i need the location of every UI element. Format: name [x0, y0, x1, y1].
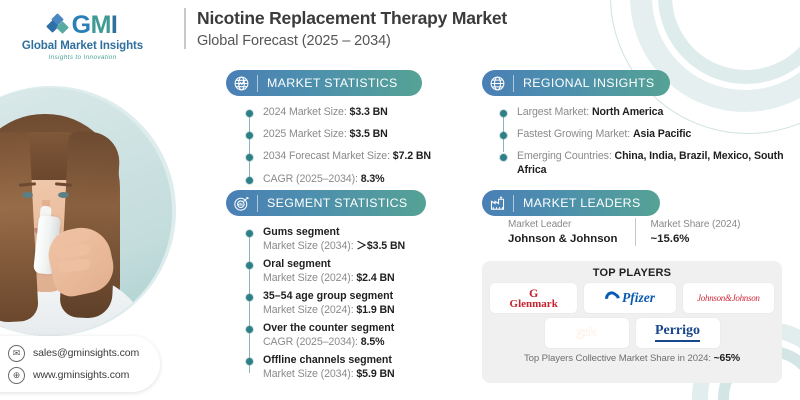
market-leaders-content: Market Leader Johnson & Johnson Market S… [508, 218, 786, 246]
logo-full-name: Global Market Insights [10, 40, 155, 52]
stat-label: 2025 Market Size: [263, 128, 347, 140]
bullet-dot [246, 177, 253, 184]
top-players-footer-label: Top Players Collective Market Share in 2… [524, 353, 711, 364]
segment-value: $1.9 BN [356, 304, 394, 316]
brand-logo[interactable]: GMI Global Market Insights Insights to I… [10, 13, 155, 61]
region-value: North America [592, 106, 663, 118]
bullet-dot [500, 154, 507, 161]
top-players-title: TOP PLAYERS [490, 267, 774, 279]
segment-name: Over the counter segment [263, 322, 466, 336]
bullet-dot [500, 110, 507, 117]
market-share-label: Market Share (2024) [650, 218, 740, 232]
list-item: CAGR (2025–2034): 8.3% [246, 173, 461, 186]
stat-value: $3.3 BN [350, 106, 388, 118]
contact-card: ✉ sales@gminsights.com ⊕ www.gminsights.… [0, 336, 160, 392]
contact-website: www.gminsights.com [33, 369, 129, 381]
market-statistics-label: MARKET STATISTICS [267, 76, 398, 90]
list-item: Fastest Growing Market: Asia Pacific [500, 128, 790, 141]
stat-label: 2034 Forecast Market Size: [263, 150, 390, 162]
segment-label: Market Size (2034): [263, 368, 354, 380]
page-title: Nicotine Replacement Therapy Market [197, 8, 507, 28]
bullet-dot [246, 326, 253, 333]
top-players-row-1: G Glenmark Pfizer Johnson&Johnson [490, 283, 774, 313]
top-players-row-2: gsk Perrigo [490, 318, 774, 348]
bullet-dot [246, 262, 253, 269]
header: GMI Global Market Insights Insights to I… [0, 0, 800, 62]
list-item: 35–54 age group segment Market Size (202… [246, 290, 466, 317]
region-label: Emerging Countries: [517, 150, 612, 162]
segment-value: $5.9 BN [356, 368, 394, 380]
list-item: Gums segment Market Size (2034): ＞$3.5 B… [246, 226, 466, 253]
segment-name: Oral segment [263, 258, 466, 272]
regional-insights-header: REGIONAL INSIGHTS [482, 70, 670, 96]
list-item: 2024 Market Size: $3.3 BN [246, 106, 461, 119]
region-label: Largest Market: [517, 106, 589, 118]
title-block: Nicotine Replacement Therapy Market Glob… [184, 8, 507, 49]
segment-statistics-list: Gums segment Market Size (2034): ＞$3.5 B… [246, 226, 466, 381]
stat-label: 2024 Market Size: [263, 106, 347, 118]
segment-label: Market Size (2024): [263, 304, 354, 316]
stat-value: $7.2 BN [393, 150, 431, 162]
segment-label: Market Size (2034): [263, 240, 354, 252]
segment-label: Market Size (2024): [263, 272, 354, 284]
segment-value: $2.4 BN [356, 272, 394, 284]
region-value: Asia Pacific [633, 128, 691, 140]
bullet-dot [246, 110, 253, 117]
target-chart-icon [226, 190, 256, 216]
top-players-card: TOP PLAYERS G Glenmark Pfizer Johnson&Jo… [482, 261, 782, 383]
globe-icon [482, 70, 512, 96]
market-leader-value: Johnson & Johnson [508, 232, 617, 247]
logo-tagline: Insights to Innovation [10, 54, 155, 61]
segment-label: CAGR (2025–2034): [263, 336, 358, 348]
segment-name: Offline channels segment [263, 354, 466, 368]
region-label: Fastest Growing Market: [517, 128, 630, 140]
list-item: Emerging Countries: China, India, Brazil… [500, 150, 790, 176]
segment-name: 35–54 age group segment [263, 290, 466, 304]
market-statistics-list: 2024 Market Size: $3.3 BN 2025 Market Si… [246, 106, 461, 186]
logo-mark: GMI [10, 13, 155, 38]
hero-image [0, 88, 172, 336]
bullet-dot [500, 132, 507, 139]
player-logo-glenmark[interactable]: G Glenmark [490, 283, 577, 313]
contact-website-row[interactable]: ⊕ www.gminsights.com [8, 367, 152, 384]
list-item: Largest Market: North America [500, 106, 790, 119]
stat-value: $3.5 BN [350, 128, 388, 140]
player-logo-pfizer[interactable]: Pfizer [584, 283, 675, 313]
market-leaders-label: MARKET LEADERS [523, 196, 641, 210]
market-statistics-header: MARKET STATISTICS [226, 70, 422, 96]
glenmark-name: Glenmark [510, 298, 558, 310]
envelope-icon: ✉ [8, 345, 25, 362]
player-logo-perrigo[interactable]: Perrigo [636, 318, 720, 348]
bullet-dot [246, 358, 253, 365]
market-share-block: Market Share (2024) ~15.6% [635, 218, 752, 246]
player-logo-gsk[interactable]: gsk [545, 318, 629, 348]
list-item: 2034 Forecast Market Size: $7.2 BN [246, 150, 461, 163]
market-leader-label: Market Leader [508, 218, 617, 232]
segment-value: 8.5% [361, 336, 385, 348]
segment-statistics-header: SEGMENT STATISTICS [226, 190, 426, 216]
pfizer-swoosh-icon [603, 288, 623, 307]
gsk-name: gsk [569, 324, 603, 343]
segment-statistics-label: SEGMENT STATISTICS [267, 196, 408, 210]
player-logo-johnson-and-johnson[interactable]: Johnson&Johnson [683, 283, 774, 313]
jnj-name: Johnson&Johnson [697, 293, 760, 303]
perrigo-name: Perrigo [655, 324, 700, 342]
diamonds-icon [48, 15, 68, 37]
regional-insights-list: Largest Market: North America Fastest Gr… [500, 106, 790, 177]
market-leader-block: Market Leader Johnson & Johnson [508, 218, 629, 246]
top-players-footer-value: ~65% [714, 353, 740, 364]
contact-email-row[interactable]: ✉ sales@gminsights.com [8, 345, 152, 362]
bullet-dot [246, 230, 253, 237]
market-share-value: ~15.6% [650, 232, 740, 247]
regional-insights-label: REGIONAL INSIGHTS [523, 76, 654, 90]
segment-name: Gums segment [263, 226, 466, 240]
bullet-dot [246, 154, 253, 161]
factory-icon [482, 190, 512, 216]
list-item: 2025 Market Size: $3.5 BN [246, 128, 461, 141]
globe-chart-icon [226, 70, 256, 96]
market-leaders-header: MARKET LEADERS [482, 190, 660, 216]
infographic-page: GMI Global Market Insights Insights to I… [0, 0, 800, 400]
globe-icon: ⊕ [8, 367, 25, 384]
bullet-dot [246, 294, 253, 301]
page-subtitle: Global Forecast (2025 – 2034) [197, 33, 507, 49]
woman-using-nasal-spray-photo [0, 88, 172, 336]
logo-gmi-text: GMI [72, 13, 118, 38]
list-item: Offline channels segment Market Size (20… [246, 354, 466, 381]
list-item: Oral segment Market Size (2024): $2.4 BN [246, 258, 466, 285]
top-players-footer: Top Players Collective Market Share in 2… [490, 353, 774, 364]
pfizer-name: Pfizer [622, 290, 655, 306]
contact-email: sales@gminsights.com [33, 347, 139, 359]
stat-label: CAGR (2025–2034): [263, 173, 358, 185]
list-item: Over the counter segment CAGR (2025–2034… [246, 322, 466, 349]
bullet-dot [246, 132, 253, 139]
stat-value: 8.3% [361, 173, 385, 185]
segment-value: ＞$3.5 BN [356, 240, 405, 252]
